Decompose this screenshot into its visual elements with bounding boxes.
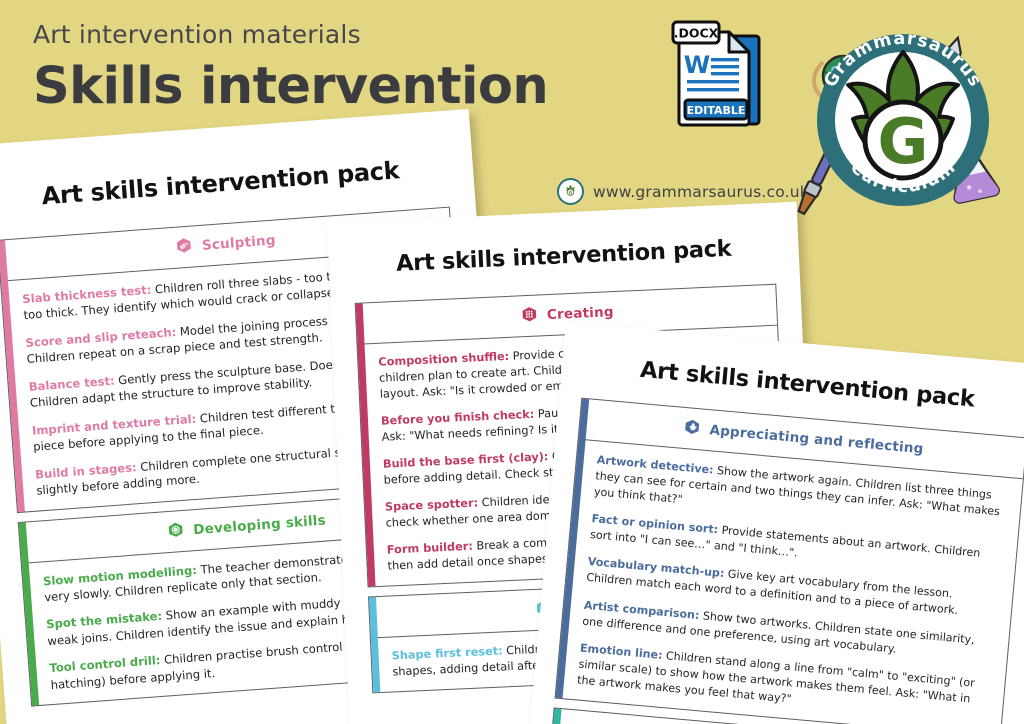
section-label: Developing skills xyxy=(193,512,327,538)
grammarsaurus-curriculum-logo: G Grammarsaurus Curriculum xyxy=(795,12,1011,216)
header-eyebrow: Art intervention materials xyxy=(33,22,548,47)
document-title-1: Art skills intervention pack xyxy=(0,151,474,216)
website-url: www.grammarsaurus.co.uk xyxy=(593,183,809,201)
docx-extension-label: .DOCX xyxy=(674,26,719,41)
poster-header: Art intervention materials Skills interv… xyxy=(33,22,548,114)
word-letter-w: W xyxy=(684,51,710,79)
page-title: Skills intervention xyxy=(33,59,548,114)
logo-center-letter: G xyxy=(878,105,929,178)
document-title-2: Art skills intervention pack xyxy=(328,233,799,280)
appreciating-eye-icon xyxy=(681,418,703,440)
section-color-bar xyxy=(549,708,562,724)
developing-gear-icon xyxy=(165,520,186,541)
docx-editable-badge: W .DOCX EDITABLE xyxy=(667,20,767,132)
section-body: Artwork detective: Show the artwork agai… xyxy=(556,440,1023,724)
grammarsaurus-footprint-icon: G xyxy=(557,178,584,205)
section-label: Creating xyxy=(547,304,614,323)
poster-canvas: Art skills intervention pack Sculpting S… xyxy=(0,0,1024,724)
sculpting-hands-icon xyxy=(173,236,194,257)
section-label: Appreciating and reflecting xyxy=(709,422,924,457)
editable-label: EDITABLE xyxy=(687,104,746,117)
section-appreciating-and-reflecting: Appreciating and reflecting Artwork dete… xyxy=(554,398,1024,724)
document-sheet-3[interactable]: Art skills intervention pack Appreciatin… xyxy=(516,322,1024,724)
section-label: Sculpting xyxy=(201,232,276,253)
creating-tools-icon xyxy=(519,305,540,326)
svg-text:G: G xyxy=(569,190,573,196)
website-link[interactable]: G www.grammarsaurus.co.uk xyxy=(557,178,809,205)
